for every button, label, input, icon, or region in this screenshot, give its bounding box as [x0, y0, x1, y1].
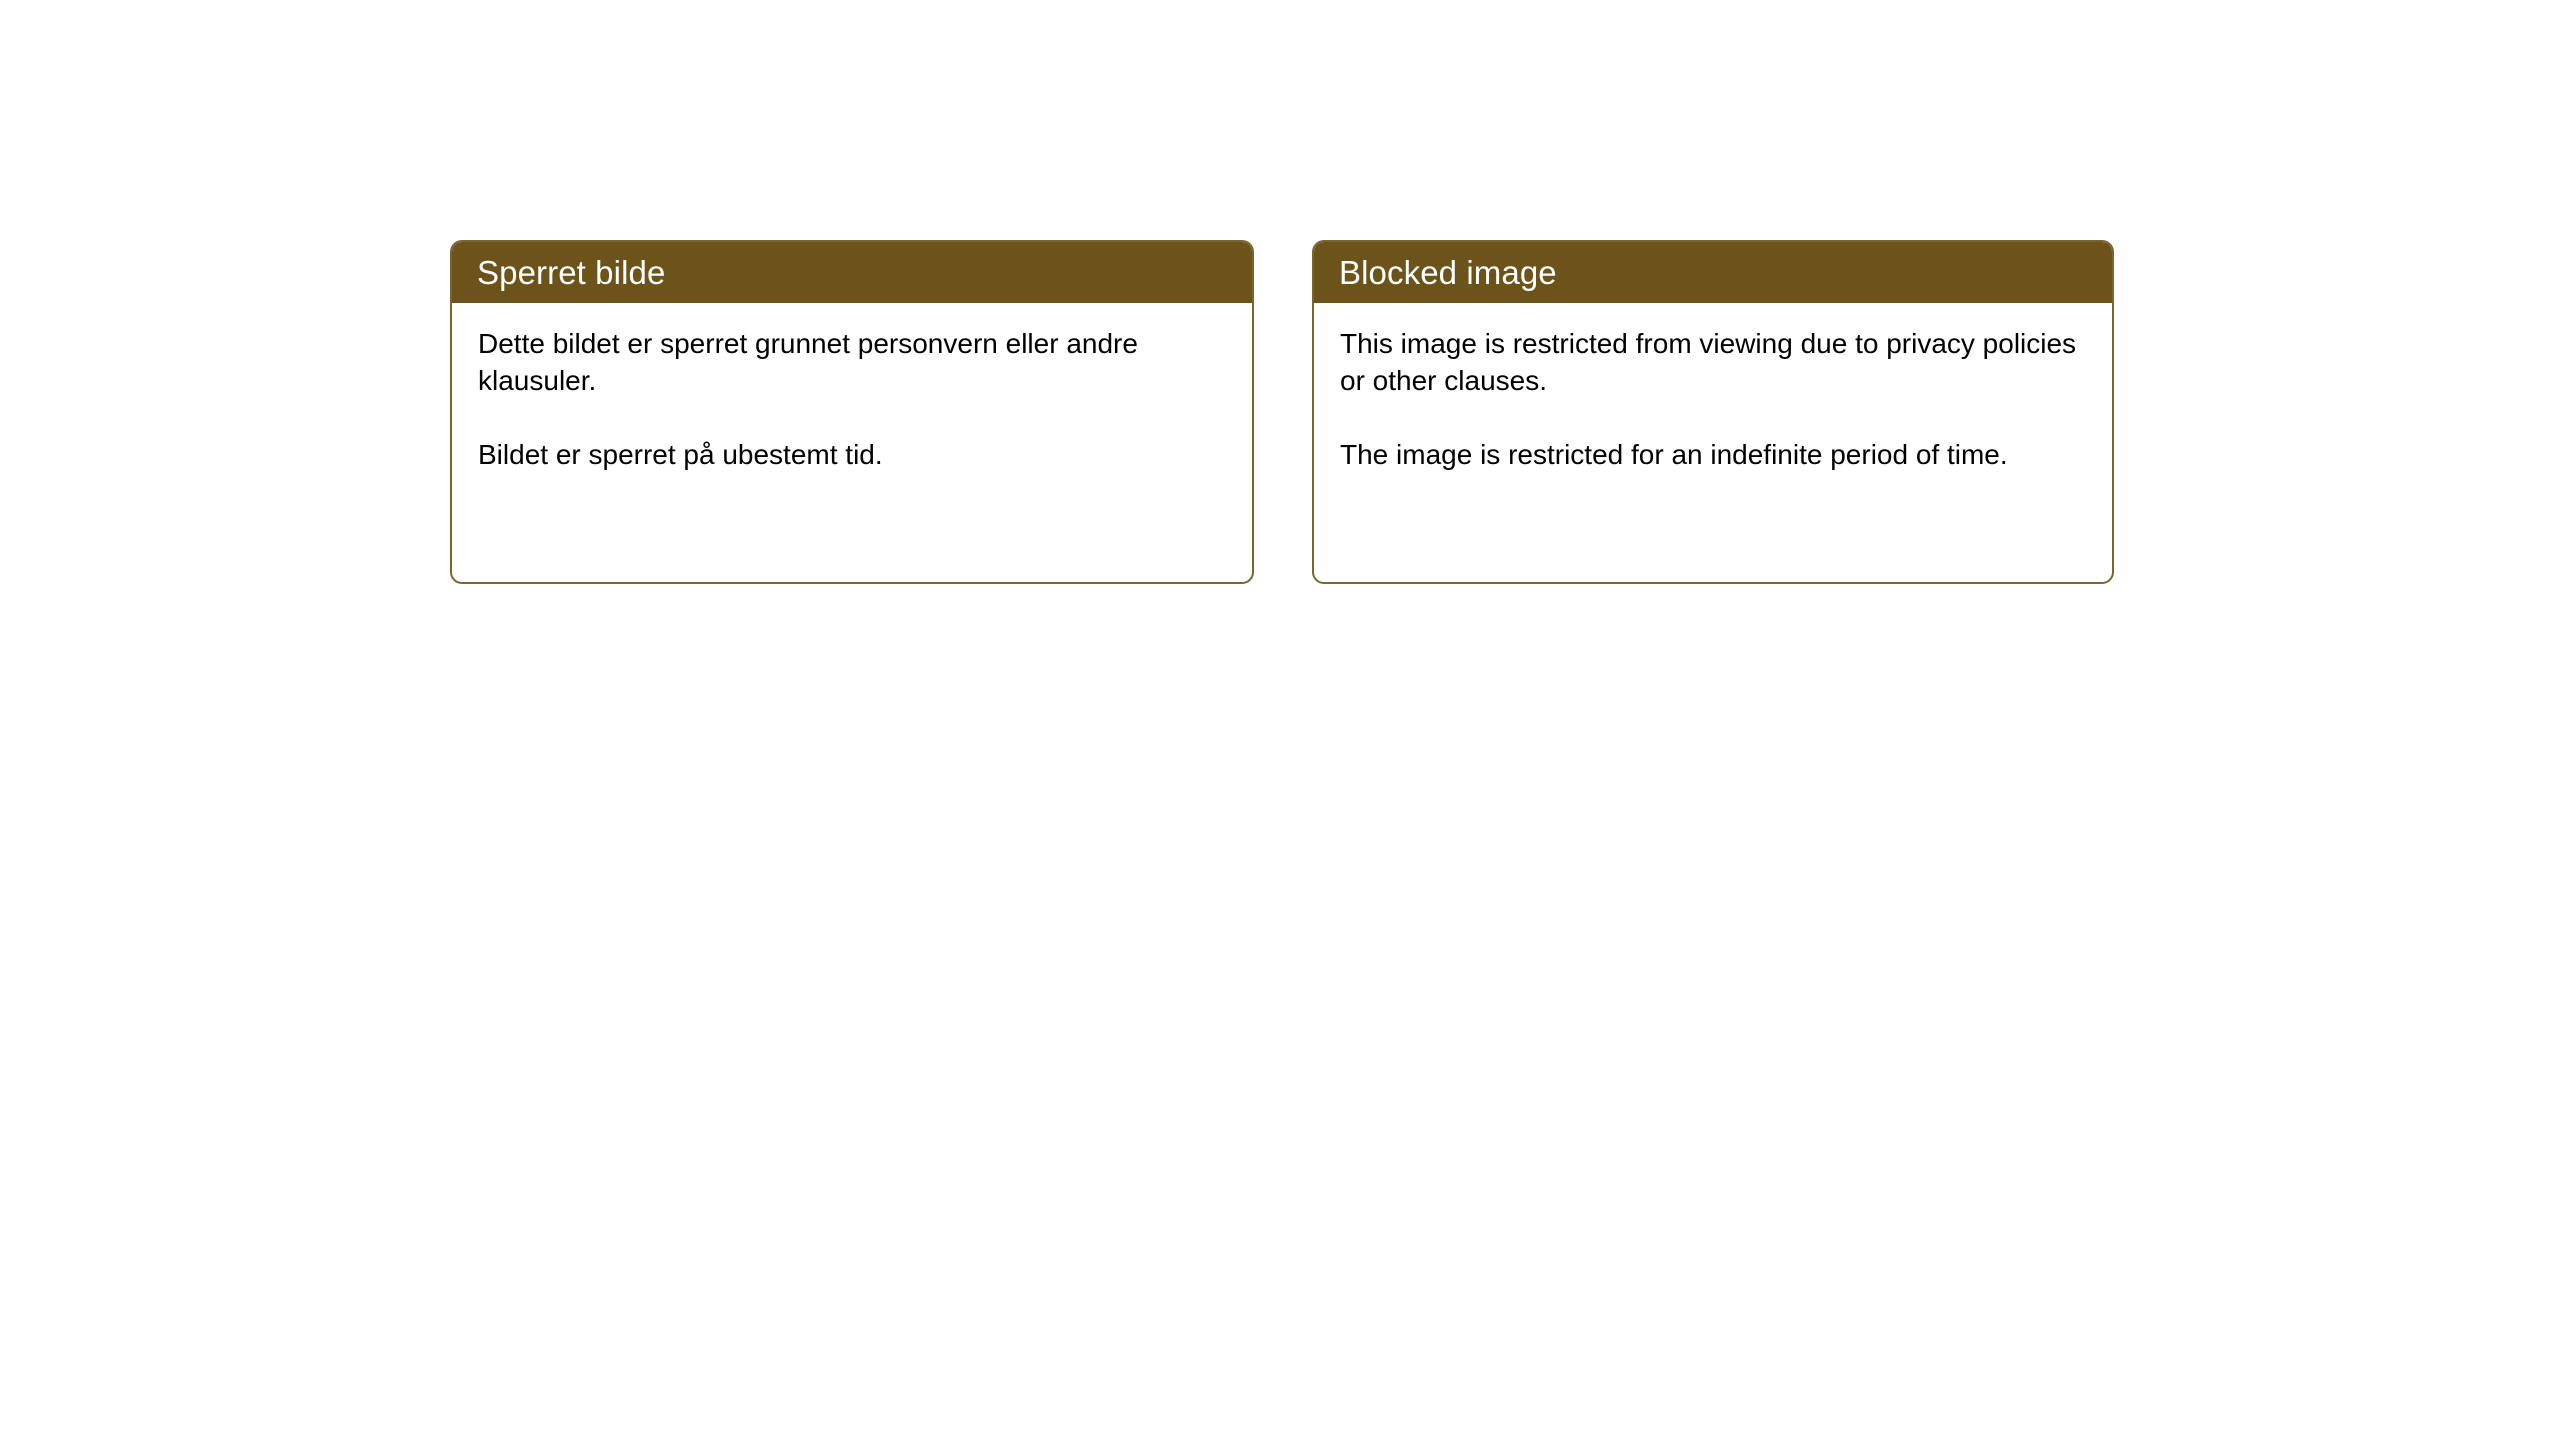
notice-title-norwegian: Sperret bilde	[477, 256, 665, 289]
notice-title-english: Blocked image	[1339, 256, 1557, 289]
blocked-image-notice-norwegian: Sperret bilde Dette bildet er sperret gr…	[450, 240, 1254, 584]
notice-paragraph-reason-norwegian: Dette bildet er sperret grunnet personve…	[478, 325, 1226, 399]
notice-paragraph-reason-english: This image is restricted from viewing du…	[1340, 325, 2086, 399]
notice-paragraph-duration-english: The image is restricted for an indefinit…	[1340, 436, 2086, 473]
notice-body-norwegian: Dette bildet er sperret grunnet personve…	[452, 303, 1252, 474]
notice-paragraph-duration-norwegian: Bildet er sperret på ubestemt tid.	[478, 436, 1226, 473]
page-root: Sperret bilde Dette bildet er sperret gr…	[0, 0, 2560, 1440]
notice-header-norwegian: Sperret bilde	[452, 242, 1252, 303]
notice-header-english: Blocked image	[1314, 242, 2112, 303]
blocked-image-notice-english: Blocked image This image is restricted f…	[1312, 240, 2114, 584]
notice-body-english: This image is restricted from viewing du…	[1314, 303, 2112, 474]
